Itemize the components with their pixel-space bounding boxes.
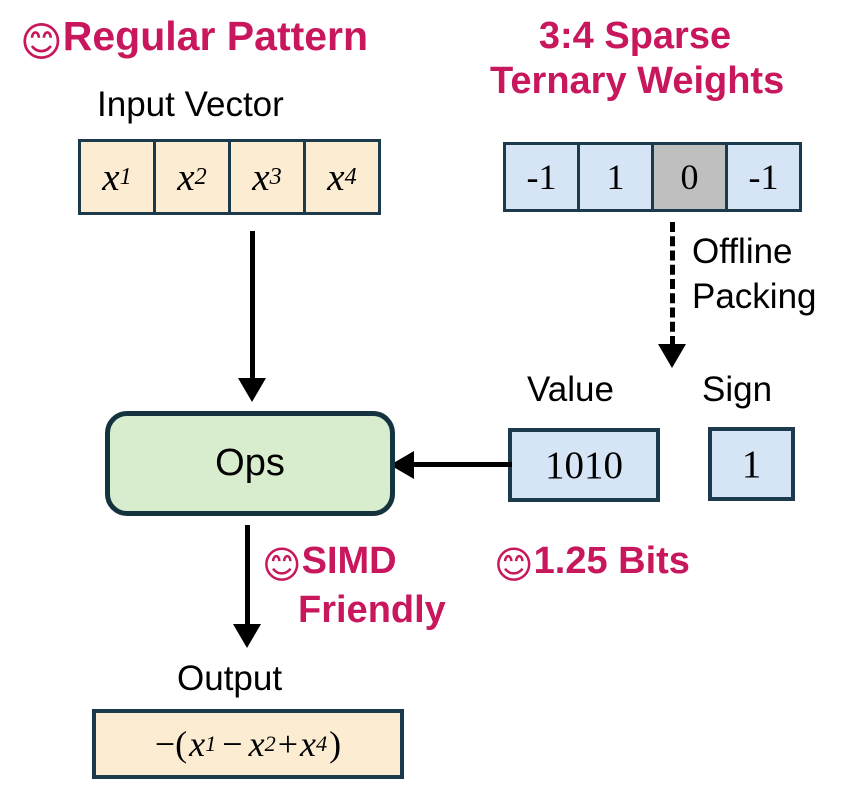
ops-node[interactable]: Ops	[105, 411, 395, 516]
output-expr-x1: x	[189, 723, 205, 765]
offline-packing-line1: Offline	[692, 233, 817, 272]
callout-bits: 😊1.25 Bits	[494, 541, 690, 586]
callout-regular-pattern-label: Regular Pattern	[63, 13, 368, 59]
smiling-face-icon: 😊	[494, 545, 534, 586]
input-cell-sub: 3	[270, 163, 282, 191]
output-expr-x2: x	[249, 723, 265, 765]
ops-to-output-arrow-head	[233, 624, 261, 648]
callout-regular-pattern: 😊Regular Pattern	[20, 14, 368, 64]
input-cell-base: x	[327, 155, 344, 200]
output-expr-plus: +	[276, 723, 300, 765]
weight-cell: -1	[503, 142, 580, 212]
callout-simd-line2: Friendly	[298, 590, 446, 631]
callout-simd-line1-wrap: 😊SIMD	[262, 541, 446, 586]
output-expr-close: )	[327, 723, 343, 765]
weight-cell-zero: 0	[651, 142, 728, 212]
callout-bits-label: 1.25 Bits	[534, 540, 690, 582]
output-expr-x1-sub: 1	[205, 731, 216, 757]
offline-packing-arrow-shaft	[670, 222, 675, 346]
ops-to-output-arrow-shaft	[245, 525, 250, 630]
input-cell-sub: 2	[195, 163, 207, 191]
smiling-face-icon: 😊	[262, 545, 302, 586]
input-cell: x4	[303, 139, 381, 215]
input-vector-row: x1 x2 x3 x4	[78, 139, 381, 215]
packed-value-box: 1010	[508, 428, 660, 502]
value-to-ops-arrow-shaft	[412, 462, 512, 467]
callout-sparse-ternary-weights: 3:4 Sparse Ternary Weights	[490, 16, 780, 102]
input-cell-base: x	[102, 155, 119, 200]
input-cell-base: x	[177, 155, 194, 200]
input-to-ops-arrow-head	[238, 378, 266, 402]
input-vector-label: Input Vector	[97, 86, 284, 125]
callout-sparse-line2: Ternary Weights	[490, 61, 780, 102]
output-expression-box: −(x1−x2+x4)	[92, 709, 404, 779]
ternary-weight-row: -1 1 0 -1	[503, 142, 802, 212]
offline-packing-arrow-head	[658, 344, 686, 368]
weight-cell: 1	[577, 142, 654, 212]
input-to-ops-arrow-shaft	[250, 231, 255, 381]
callout-sparse-line1: 3:4 Sparse	[490, 16, 780, 57]
input-cell-base: x	[252, 155, 269, 200]
output-label: Output	[177, 660, 282, 699]
offline-packing-line2: Packing	[692, 278, 817, 317]
output-expr-minus: −	[216, 723, 248, 765]
value-label: Value	[527, 371, 614, 410]
input-cell-sub: 1	[120, 163, 132, 191]
input-cell: x3	[228, 139, 306, 215]
callout-simd-friendly: 😊SIMD Friendly	[262, 541, 446, 631]
input-cell: x1	[78, 139, 156, 215]
output-expr-neg: −(	[153, 723, 189, 765]
input-cell: x2	[153, 139, 231, 215]
output-expr-x4: x	[300, 723, 316, 765]
packed-sign-box: 1	[708, 427, 795, 501]
callout-simd-line1: SIMD	[302, 540, 397, 582]
smiling-face-icon: 😊	[20, 20, 63, 64]
output-expr-x4-sub: 4	[316, 731, 327, 757]
weight-cell: -1	[725, 142, 802, 212]
sign-label: Sign	[702, 371, 772, 410]
output-expr-x2-sub: 2	[265, 731, 276, 757]
offline-packing-label: Offline Packing	[692, 233, 817, 316]
input-cell-sub: 4	[345, 163, 357, 191]
